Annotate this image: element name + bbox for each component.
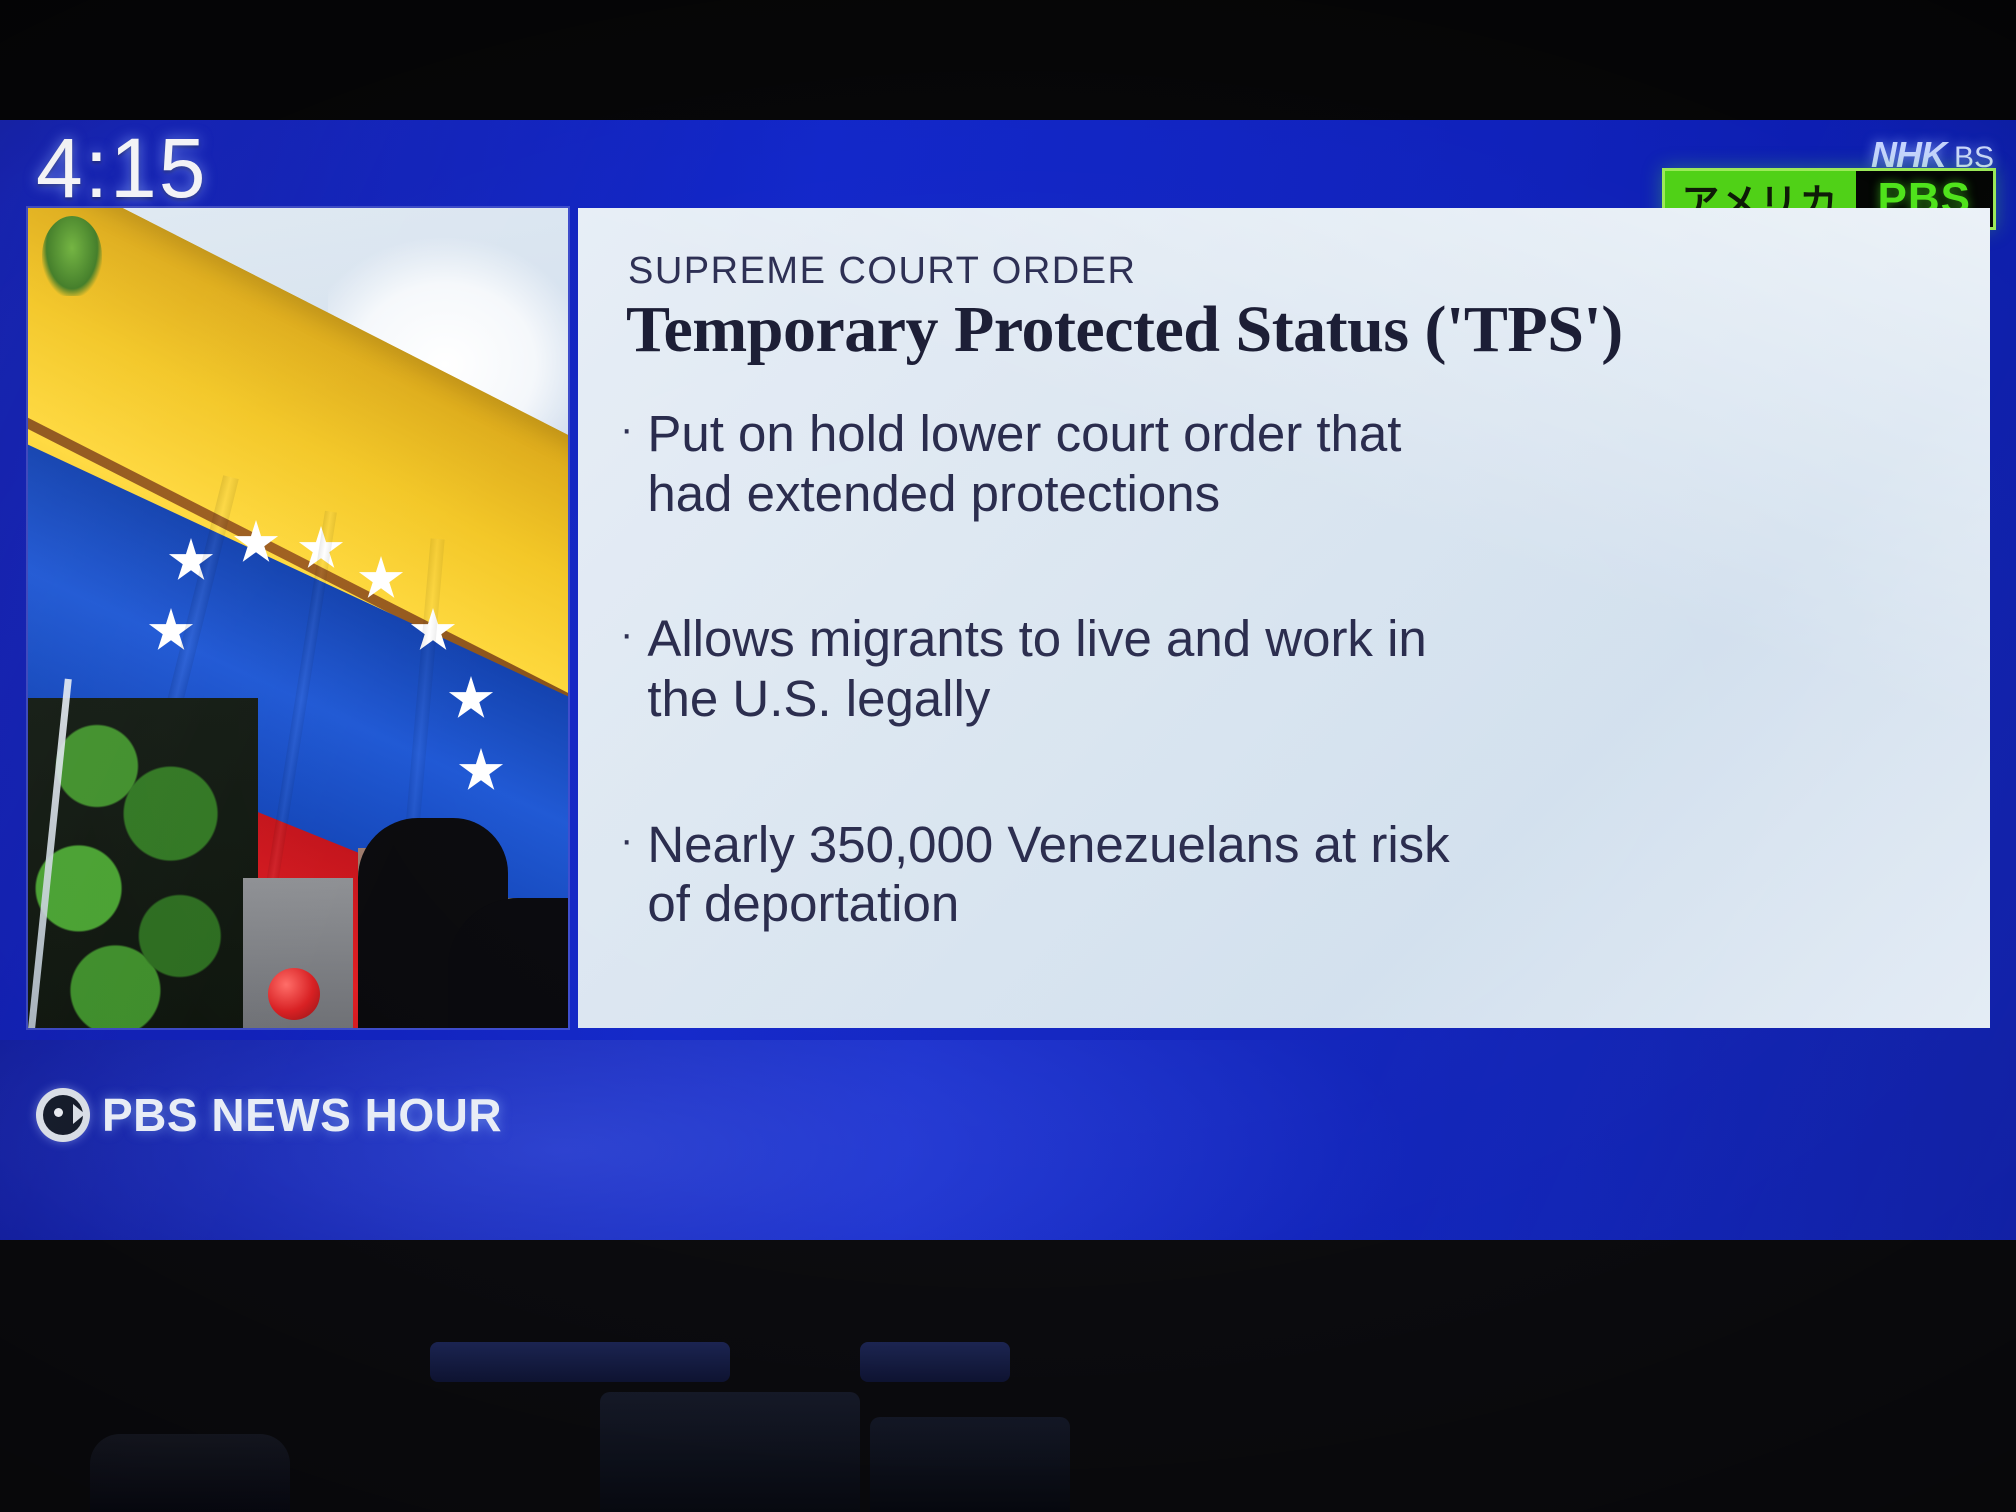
foreground-object [600, 1392, 860, 1512]
info-panel: SUPREME COURT ORDER Temporary Protected … [578, 208, 1990, 1028]
foreground-object [90, 1434, 290, 1512]
pbs-eye-glyph [54, 1108, 63, 1117]
pbs-nose-glyph [73, 1104, 85, 1124]
list-item: · Put on hold lower court order that had… [620, 404, 1970, 523]
bullet-marker-icon: · [620, 815, 633, 861]
list-item: · Allows migrants to live and work in th… [620, 609, 1970, 728]
bottom-letterbox [0, 1240, 2016, 1512]
list-item: · Nearly 350,000 Venezuelans at risk of … [620, 815, 1970, 934]
tv-photo-frame: 4:15 NHK BS アメリカ PBS [0, 0, 2016, 1512]
bullet-marker-icon: · [620, 609, 633, 655]
foreground-object [860, 1342, 1010, 1382]
pbs-news-hour-bug: PBS NEWS HOUR [36, 1088, 502, 1142]
lower-blue-band: PBS NEWS HOUR [0, 1040, 2016, 1240]
bullet-text: Put on hold lower court order that had e… [647, 404, 1401, 523]
bullet-text: Allows migrants to live and work in the … [647, 609, 1426, 728]
foreground-object [430, 1342, 730, 1382]
bullet-marker-icon: · [620, 404, 633, 450]
on-screen-clock: 4:15 [36, 126, 208, 210]
pbs-head-icon [36, 1088, 90, 1142]
bullet-list: · Put on hold lower court order that had… [620, 404, 1970, 1020]
flag-coat-of-arms [42, 216, 102, 296]
photo-red-object [268, 968, 320, 1020]
bullet-text: Nearly 350,000 Venezuelans at risk of de… [647, 815, 1449, 934]
tv-screen: 4:15 NHK BS アメリカ PBS [0, 120, 2016, 1040]
panel-kicker: SUPREME COURT ORDER [628, 250, 1137, 293]
news-photo [28, 208, 568, 1028]
pbs-news-hour-wordmark: PBS NEWS HOUR [102, 1088, 502, 1142]
foreground-object [870, 1417, 1070, 1512]
panel-headline: Temporary Protected Status ('TPS') [626, 292, 1623, 368]
pbs-head-glyph [43, 1095, 83, 1135]
